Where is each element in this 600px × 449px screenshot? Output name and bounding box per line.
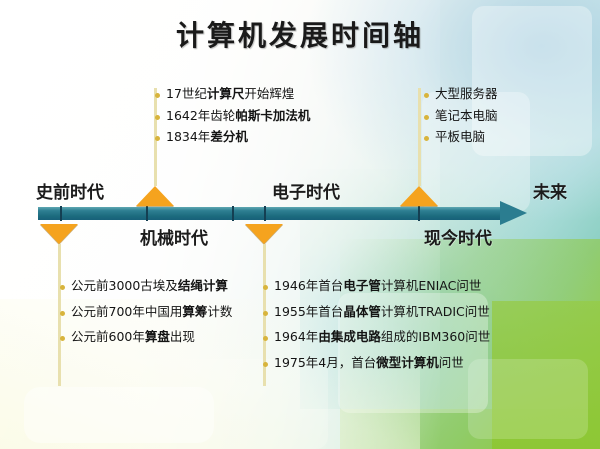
- list-item: 公元前700年中国用算筹计数: [60, 306, 232, 319]
- list-item: 公元前3000古埃及结绳计算: [60, 280, 232, 293]
- fact-text-highlight: 晶体管: [343, 304, 381, 319]
- fact-text-highlight: 差分机: [210, 129, 248, 144]
- list-item: 笔记本电脑: [424, 110, 498, 123]
- fact-text-pre: 1964年: [274, 329, 318, 344]
- list-item: 公元前600年算盘出现: [60, 331, 232, 344]
- page-title: 计算机发展时间轴: [0, 14, 600, 54]
- fact-text-highlight: 结绳计算: [178, 278, 228, 293]
- list-item: 17世纪计算尺开始辉煌: [155, 88, 310, 101]
- timeline-axis: [38, 207, 508, 220]
- marker-down-electronic: [245, 224, 283, 244]
- fact-group-upper-right: 大型服务器笔记本电脑平板电脑: [424, 88, 498, 153]
- list-item: 1964年由集成电路组成的IBM360问世: [263, 331, 490, 344]
- era-label-prehistoric: 史前时代: [36, 178, 104, 203]
- slide-canvas: 计算机发展时间轴 史前时代 机械时代 电子时代 现今时代 未来 17世纪计算尺开…: [0, 0, 600, 449]
- list-item: 1834年差分机: [155, 131, 310, 144]
- fact-text-pre: 17世纪: [166, 86, 207, 101]
- fact-text-highlight: 算筹: [182, 304, 207, 319]
- fact-text-highlight: 算盘: [145, 329, 170, 344]
- era-label-electronic: 电子时代: [272, 178, 340, 203]
- fact-text-post: 出现: [170, 329, 195, 344]
- fact-group-lower-right: 1946年首台电子管计算机ENIAC问世1955年首台晶体管计算机TRADIC问…: [263, 280, 490, 382]
- list-item: 1975年4月，首台微型计算机问世: [263, 357, 490, 370]
- era-label-future: 未来: [533, 178, 567, 203]
- fact-text-post: 开始辉煌: [244, 86, 294, 101]
- connector-upper-right: [418, 88, 421, 186]
- fact-text-highlight: 帕斯卡加法机: [235, 108, 310, 123]
- fact-text-highlight: 计算尺: [207, 86, 245, 101]
- fact-text-pre: 公元前700年中国用: [71, 304, 182, 319]
- fact-text-highlight: 微型计算机: [376, 355, 439, 370]
- fact-text-post: 计算机TRADIC问世: [381, 304, 490, 319]
- axis-tick-2: [232, 206, 234, 221]
- list-item: 1955年首台晶体管计算机TRADIC问世: [263, 306, 490, 319]
- marker-up-mechanical: [136, 186, 174, 206]
- list-item: 1642年齿轮帕斯卡加法机: [155, 110, 310, 123]
- axis-tick-3: [264, 206, 266, 221]
- fact-text-pre: 1975年4月，首台: [274, 355, 376, 370]
- fact-text-highlight: 电子管: [343, 278, 381, 293]
- fact-text-pre: 1946年首台: [274, 278, 343, 293]
- fact-text-pre: 大型服务器: [435, 86, 498, 101]
- list-item: 大型服务器: [424, 88, 498, 101]
- fact-text-highlight: 由集成电路: [318, 329, 381, 344]
- fact-text-pre: 公元前3000古埃及: [71, 278, 178, 293]
- axis-tick-4: [418, 206, 420, 221]
- marker-up-present: [400, 186, 438, 206]
- timeline-arrow-head-icon: [500, 201, 527, 225]
- fact-text-post: 计算机ENIAC问世: [381, 278, 482, 293]
- fact-text-pre: 1834年: [166, 129, 210, 144]
- era-label-present: 现今时代: [424, 224, 492, 249]
- fact-group-upper-left: 17世纪计算尺开始辉煌1642年齿轮帕斯卡加法机1834年差分机: [155, 88, 310, 153]
- marker-down-prehistoric: [40, 224, 78, 244]
- list-item: 平板电脑: [424, 131, 498, 144]
- fact-text-pre: 平板电脑: [435, 129, 485, 144]
- fact-group-lower-left: 公元前3000古埃及结绳计算公元前700年中国用算筹计数公元前600年算盘出现: [60, 280, 232, 357]
- fact-text-post: 组成的IBM360问世: [381, 329, 490, 344]
- fact-text-pre: 1642年齿轮: [166, 108, 235, 123]
- background-green-block: [492, 301, 600, 449]
- fact-text-pre: 1955年首台: [274, 304, 343, 319]
- fact-text-post: 问世: [439, 355, 464, 370]
- axis-tick-0: [60, 206, 62, 221]
- fact-text-pre: 笔记本电脑: [435, 108, 498, 123]
- axis-tick-1: [146, 206, 148, 221]
- fact-text-post: 计数: [207, 304, 232, 319]
- fact-text-pre: 公元前600年: [71, 329, 145, 344]
- era-label-mechanical: 机械时代: [140, 224, 208, 249]
- list-item: 1946年首台电子管计算机ENIAC问世: [263, 280, 490, 293]
